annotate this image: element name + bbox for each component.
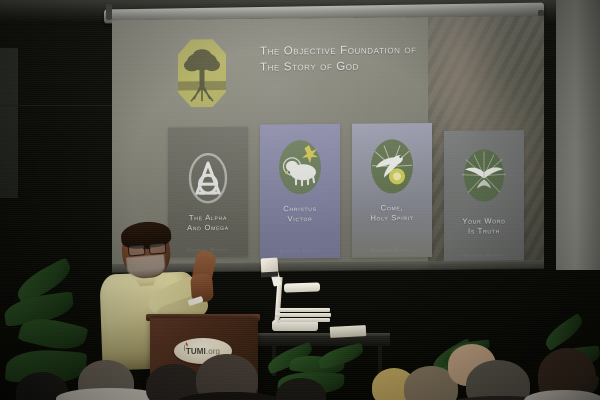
logo-text: TUMI.org: [186, 347, 220, 356]
book-stack: [330, 325, 367, 338]
tree-icon: [178, 39, 226, 107]
right-wall-panel: [556, 0, 600, 270]
paper-stack: [278, 308, 330, 325]
panel-subcaption-holy-spirit: Sacred Roots: [352, 247, 432, 253]
speaker-glasses-icon: [128, 242, 167, 254]
logo-flame-icon: [183, 342, 190, 351]
roller-bracket-left: [106, 4, 112, 20]
caption-line-1: Your Word: [462, 216, 505, 225]
overhead-projector-lens: [261, 272, 278, 278]
caption-line-2: Is Truth: [468, 226, 500, 235]
slide-panel-your-word: Your Word Is Truth Sacred Roots: [444, 130, 524, 263]
tumi-tree-badge: [178, 39, 226, 107]
descending-dove-icon: [364, 135, 420, 198]
panel-subcaption-christus-victor: Sacred Roots: [260, 248, 340, 254]
alpha-omega-monogram-icon: [183, 149, 233, 207]
caption-line-2: Victor: [287, 214, 312, 223]
slide-title-line-2: The Story of God: [260, 58, 510, 76]
caption-line-2: Holy Spirit: [370, 213, 413, 222]
slide-panel-holy-spirit: Come, Holy Spirit Sacred Roots: [352, 123, 432, 258]
slide-title: The Objective Foundation of The Story of…: [260, 42, 510, 75]
slide-panel-christus-victor: Christus Victor Sacred Roots: [260, 124, 340, 259]
caption-line-1: Come,: [381, 203, 404, 212]
left-window: [0, 48, 18, 198]
presentation-photo: The Objective Foundation of The Story of…: [0, 0, 600, 400]
panel-subcaption-your-word: Sacred Roots: [444, 252, 524, 258]
paschal-lamb-icon: [272, 136, 328, 199]
panel-caption-christus-victor: Christus Victor: [260, 204, 340, 225]
equipment-table: [258, 336, 390, 346]
panel-caption-holy-spirit: Come, Holy Spirit: [352, 203, 432, 224]
open-bible-icon: [456, 146, 512, 207]
panel-caption-your-word: Your Word Is Truth: [444, 216, 524, 237]
caption-line-1: Christus: [283, 204, 316, 213]
overhead-projector-stage: [284, 282, 320, 292]
